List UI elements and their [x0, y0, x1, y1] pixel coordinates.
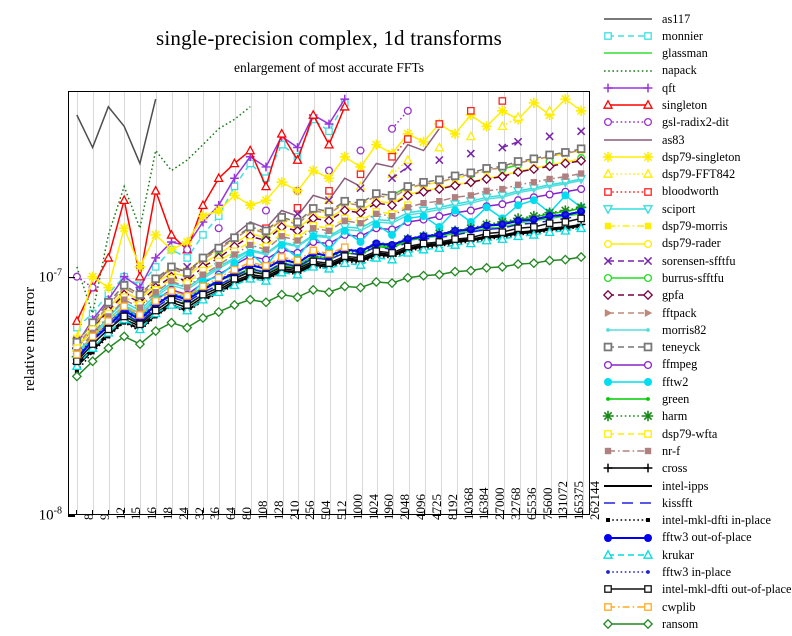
legend-label: qft [656, 82, 676, 94]
legend-item[interactable]: krukar [600, 546, 790, 563]
legend-label: intel-mkl-dfti out-of-place [656, 583, 791, 595]
data-point-marker [532, 188, 536, 192]
data-point-marker [530, 155, 537, 162]
data-point-marker [229, 190, 239, 200]
data-point-marker [404, 183, 411, 190]
data-point-marker [419, 271, 427, 279]
x-axis-tick-label: 24 [176, 507, 192, 520]
data-point-marker [246, 249, 254, 257]
data-point-marker [371, 139, 381, 149]
x-axis-tick-label: 80 [239, 507, 255, 520]
legend-item[interactable]: burrus-sfftfu [600, 269, 790, 286]
legend-label: napack [656, 64, 697, 76]
x-axis-tick-label: 9 [97, 514, 113, 521]
legend-line-icon [600, 496, 656, 510]
legend-item[interactable]: gpfa [600, 287, 790, 304]
legend-item[interactable]: dsp79-wfta [600, 425, 790, 442]
legend-line-icon [600, 409, 656, 423]
data-point-marker [389, 125, 396, 132]
data-point-marker [437, 232, 441, 236]
legend-item[interactable]: kissfft [600, 494, 790, 511]
data-point-marker [136, 272, 144, 279]
data-point-marker [467, 178, 475, 186]
chart-subtitle: enlargement of most accurate FFTs [68, 60, 590, 76]
legend-item[interactable]: harm [600, 408, 790, 425]
data-point-marker [87, 271, 97, 281]
legend-marker-icon [605, 448, 611, 454]
legend-item[interactable]: dsp79-rader [600, 235, 790, 252]
data-point-marker [436, 121, 442, 127]
data-point-marker [530, 259, 538, 267]
legend-marker-icon [605, 240, 612, 247]
data-point-marker [279, 233, 285, 239]
legend-item[interactable]: cwplib [600, 598, 790, 615]
legend-marker-icon [645, 240, 652, 247]
legend-marker-icon [605, 188, 611, 194]
data-point-marker [359, 229, 363, 233]
legend-marker-icon [644, 257, 651, 264]
legend-item[interactable]: fftw2 [600, 373, 790, 390]
x-axis-tick-mark [471, 510, 472, 515]
legend-marker-icon [603, 411, 613, 421]
legend-swatch [600, 306, 656, 320]
legend-item[interactable]: cross [600, 460, 790, 477]
data-point-marker [389, 192, 396, 199]
x-axis-tick-mark [345, 510, 346, 515]
data-point-marker [73, 317, 81, 324]
legend-item[interactable]: fftpack [600, 304, 790, 321]
data-point-marker [390, 221, 394, 225]
legend-label: cwplib [656, 601, 695, 613]
data-point-marker [499, 229, 505, 235]
data-point-marker [246, 146, 254, 153]
data-point-marker [469, 227, 473, 231]
data-point-marker [483, 188, 489, 194]
legend-marker-icon [605, 604, 611, 610]
legend-line-icon [600, 150, 656, 164]
legend-marker-icon [604, 170, 612, 177]
data-point-marker [405, 136, 411, 142]
legend-marker-icon [644, 551, 652, 558]
legend-item[interactable]: monnier [600, 27, 790, 44]
x-axis-tick-label: 2048 [397, 494, 413, 520]
legend-label: dsp79-rader [656, 237, 721, 249]
legend-item[interactable]: intel-ipps [600, 477, 790, 494]
data-point-marker [119, 223, 129, 233]
data-point-marker [373, 248, 379, 254]
legend-line-icon [600, 582, 656, 596]
legend-item[interactable]: sorensen-sfftfu [600, 252, 790, 269]
legend-marker-icon [604, 620, 612, 628]
legend-line-icon [600, 237, 656, 251]
legend-swatch [600, 548, 656, 562]
legend-marker-icon [606, 397, 610, 401]
legend-item[interactable]: fftw3 in-place [600, 564, 790, 581]
legend-marker-icon [644, 534, 652, 542]
chart-title: single-precision complex, 1d transforms [68, 26, 590, 51]
data-point-marker [89, 319, 96, 326]
legend-line-icon [600, 202, 656, 216]
data-point-marker [499, 201, 506, 208]
x-axis-tick-label: 8 [81, 514, 97, 521]
data-point-marker [216, 275, 222, 281]
data-point-marker [326, 128, 332, 134]
data-point-marker [279, 264, 285, 270]
legend-label: burrus-sfftfu [656, 272, 724, 284]
x-axis-tick-label: 210 [287, 501, 303, 521]
x-axis-tick-mark [456, 510, 457, 515]
legend-swatch [600, 323, 656, 337]
data-point-marker [74, 351, 80, 357]
legend-line-icon [600, 479, 656, 493]
legend-item[interactable]: nr-f [600, 442, 790, 459]
legend-item[interactable]: dsp79-FFT842 [600, 166, 790, 183]
data-point-marker [341, 198, 348, 205]
legend-item[interactable]: morris82 [600, 321, 790, 338]
data-point-marker [199, 201, 207, 208]
legend-label: glassman [656, 47, 708, 59]
data-point-marker [152, 187, 160, 194]
data-point-marker [405, 204, 411, 210]
data-point-marker [452, 194, 458, 200]
legend-line-icon [600, 133, 656, 147]
legend-item[interactable]: glassman [600, 45, 790, 62]
data-point-marker [500, 195, 504, 199]
data-point-marker [404, 163, 411, 170]
legend-marker-icon [605, 223, 611, 229]
legend-label: gpfa [656, 289, 684, 301]
legend-line-icon [600, 461, 656, 475]
legend-label: dsp79-FFT842 [656, 168, 735, 180]
x-axis-tick-label: 512 [334, 501, 350, 521]
legend-item[interactable]: napack [600, 62, 790, 79]
legend-swatch [600, 531, 656, 545]
data-point-marker [341, 282, 349, 290]
x-axis-tick-mark [582, 510, 583, 515]
data-point-marker [357, 220, 363, 226]
legend-swatch [600, 46, 656, 60]
data-point-marker [341, 227, 349, 235]
legend-swatch [600, 254, 656, 268]
data-point-marker [389, 154, 395, 160]
data-point-marker [261, 195, 271, 205]
data-point-marker [515, 225, 521, 231]
x-axis-tick-mark [187, 510, 188, 515]
data-point-marker [182, 237, 192, 247]
legend-item[interactable]: teneyck [600, 339, 790, 356]
legend-marker-icon [605, 361, 612, 368]
x-axis-tick-mark [250, 510, 251, 515]
data-point-marker [357, 200, 364, 207]
legend-line-icon [600, 427, 656, 441]
legend-marker-icon [604, 83, 613, 92]
legend-line-icon [600, 29, 656, 43]
legend-label: nr-f [656, 445, 680, 457]
data-point-marker [183, 323, 191, 331]
data-point-marker [150, 230, 160, 240]
legend-marker-icon [604, 291, 612, 299]
data-point-marker [578, 145, 585, 152]
data-point-marker [168, 296, 174, 302]
x-axis-tick-mark [266, 510, 267, 515]
x-axis-tick-label: 65536 [524, 488, 540, 521]
data-point-marker [200, 283, 206, 289]
x-axis-tick-mark [139, 510, 140, 515]
legend-label: dsp79-singleton [656, 151, 741, 163]
legend-item[interactable]: as117 [600, 10, 790, 27]
legend-item[interactable]: green [600, 391, 790, 408]
legend-item[interactable]: qft [600, 79, 790, 96]
data-point-marker [578, 186, 585, 193]
data-point-marker [497, 106, 507, 116]
data-point-marker [310, 258, 316, 264]
legend-label: gsl-radix2-dit [656, 116, 729, 128]
data-point-marker [357, 147, 364, 154]
data-point-marker [546, 107, 554, 114]
x-axis-tick-label: 4096 [413, 494, 429, 520]
data-point-marker [467, 207, 474, 214]
data-point-marker [374, 241, 378, 245]
legend-label: kissfft [656, 497, 693, 509]
y-axis-label: relative rms error [22, 287, 39, 391]
data-point-marker [309, 232, 317, 240]
legend-item[interactable]: ffmpeg [600, 356, 790, 373]
y-axis-tick-mark [68, 277, 75, 279]
x-axis-tick-label: 12 [113, 507, 129, 520]
data-point-marker [389, 213, 395, 219]
legend-item[interactable]: as83 [600, 131, 790, 148]
x-axis-tick-mark [503, 510, 504, 515]
legend-marker-icon [646, 570, 650, 574]
x-axis-tick-label: 131072 [555, 481, 571, 520]
data-point-marker [420, 240, 426, 246]
data-point-marker [498, 263, 506, 271]
legend-marker-icon [645, 604, 651, 610]
data-point-marker [579, 209, 583, 213]
data-point-marker [515, 158, 522, 165]
data-point-marker [435, 143, 443, 150]
data-point-marker [200, 254, 207, 261]
data-point-marker [483, 203, 491, 211]
data-point-marker [168, 263, 175, 270]
x-axis-tick-label: 128 [271, 501, 287, 521]
data-point-marker [89, 333, 95, 339]
legend-marker-icon [646, 397, 650, 401]
data-point-marker [200, 271, 206, 277]
data-point-marker [531, 224, 537, 230]
data-point-marker [531, 179, 537, 185]
x-axis-tick-label: 32 [192, 507, 208, 520]
data-point-marker [279, 254, 285, 260]
data-point-marker [325, 288, 333, 296]
data-point-marker [262, 182, 270, 189]
data-point-marker [357, 255, 363, 261]
legend-label: cross [656, 462, 687, 474]
legend-marker-icon [645, 448, 651, 454]
data-point-marker [562, 173, 568, 179]
data-point-marker [137, 291, 144, 298]
x-axis-tick-mark [313, 510, 314, 515]
legend-line-icon [600, 219, 656, 233]
data-point-marker [263, 246, 269, 252]
data-point-marker [388, 231, 396, 239]
legend-swatch [600, 479, 656, 493]
legend-swatch [600, 81, 656, 95]
data-point-marker [514, 260, 522, 268]
legend-label: krukar [656, 549, 694, 561]
data-point-marker [231, 267, 237, 273]
data-point-marker [406, 236, 410, 240]
data-point-marker [184, 269, 191, 276]
data-point-marker [247, 268, 253, 274]
x-axis-tick-mark [424, 510, 425, 515]
legend-item[interactable]: fftw3 out-of-place [600, 529, 790, 546]
legend-marker-icon [645, 119, 652, 126]
data-point-marker [184, 284, 190, 290]
legend-item[interactable]: ransom [600, 615, 790, 632]
x-axis-tick-label: 15 [128, 507, 144, 520]
x-axis-tick-label: 8192 [445, 494, 461, 520]
legend-marker-icon [644, 378, 652, 386]
x-axis-tick-mark [155, 510, 156, 515]
legend-item[interactable]: gsl-radix2-dit [600, 114, 790, 131]
data-point-marker [200, 291, 206, 297]
data-point-marker [436, 198, 442, 204]
x-axis-tick-mark [297, 510, 298, 515]
data-point-marker [325, 140, 333, 147]
data-point-marker [357, 238, 365, 246]
legend-item[interactable]: sciport [600, 200, 790, 217]
legend-swatch [600, 461, 656, 475]
data-point-marker [485, 223, 489, 227]
x-axis-tick-mark [171, 510, 172, 515]
legend-swatch [600, 167, 656, 181]
data-point-marker [548, 185, 552, 189]
x-axis-tick-mark [376, 510, 377, 515]
legend-marker-icon [645, 223, 651, 229]
x-axis-tick-mark [550, 510, 551, 515]
data-point-marker [548, 214, 552, 218]
legend-swatch [600, 12, 656, 26]
x-axis-tick-label: 36 [207, 507, 223, 520]
data-point-marker [545, 256, 553, 264]
data-point-marker [215, 245, 222, 252]
legend-marker-icon [644, 170, 652, 177]
legend-marker-icon [605, 344, 612, 351]
legend-marker-icon [644, 620, 652, 628]
data-point-marker [499, 186, 505, 192]
data-point-marker [498, 122, 506, 129]
data-point-marker [420, 179, 427, 186]
data-point-marker [152, 307, 158, 313]
legend-marker-icon [604, 464, 613, 473]
data-point-marker [294, 219, 301, 226]
legend-item[interactable]: intel-mkl-dfti in-place [600, 512, 790, 529]
data-point-marker [184, 302, 190, 308]
data-point-marker [292, 186, 302, 196]
data-point-marker [437, 208, 441, 212]
legend-marker-icon [606, 570, 610, 574]
data-point-marker [404, 214, 412, 222]
data-point-marker [390, 242, 394, 246]
legend-marker-icon [606, 328, 610, 332]
data-point-marker [563, 182, 567, 186]
legend-marker-icon [645, 361, 652, 368]
data-point-marker [373, 211, 379, 217]
data-point-marker [310, 205, 317, 212]
data-point-marker [560, 94, 570, 104]
data-point-marker [436, 176, 443, 183]
legend-line-icon [600, 271, 656, 285]
data-point-marker [296, 245, 300, 249]
legend-line-icon [600, 565, 656, 579]
legend-label: harm [656, 410, 687, 422]
legend-label: teneyck [656, 341, 700, 353]
data-point-marker [485, 197, 489, 201]
legend-item[interactable]: intel-mkl-dfti out-of-place [600, 581, 790, 598]
x-axis-tick-label: 4725 [429, 494, 445, 520]
data-point-marker [420, 212, 428, 220]
legend-item[interactable]: bloodworth [600, 183, 790, 200]
legend-swatch [600, 133, 656, 147]
x-axis-tick-mark [487, 510, 488, 515]
data-point-marker [468, 234, 474, 240]
data-point-marker [500, 222, 504, 226]
data-point-marker [529, 98, 539, 108]
data-point-marker [562, 149, 569, 156]
legend-swatch [600, 409, 656, 423]
data-point-marker [515, 182, 521, 188]
chart-legend: as117monnierglassmannapackqftsingletongs… [600, 10, 790, 633]
x-axis-tick-mark [108, 510, 109, 515]
data-point-marker [563, 212, 567, 216]
data-point-marker [199, 314, 207, 322]
data-point-marker [451, 267, 459, 275]
legend-line-icon [600, 392, 656, 406]
data-point-marker [420, 200, 426, 206]
x-axis-tick-label: 262144 [587, 481, 603, 520]
data-point-marker [105, 318, 111, 324]
legend-label: singleton [656, 99, 707, 111]
legend-marker-icon [645, 586, 651, 592]
legend-item[interactable]: dsp79-singleton [600, 148, 790, 165]
legend-swatch [600, 375, 656, 389]
legend-item[interactable]: dsp79-morris [600, 218, 790, 235]
legend-line-icon [600, 340, 656, 354]
data-point-marker [499, 98, 505, 104]
data-point-marker [215, 308, 223, 316]
data-point-marker [246, 295, 254, 303]
legend-marker-icon [645, 275, 652, 282]
legend-item[interactable]: singleton [600, 96, 790, 113]
data-point-marker [231, 276, 237, 282]
data-point-marker [451, 207, 459, 215]
data-point-marker [359, 249, 363, 253]
data-point-marker [262, 298, 270, 306]
legend-line-icon [600, 64, 656, 78]
data-point-marker [532, 217, 536, 221]
legend-marker-icon [605, 586, 611, 592]
data-point-marker [326, 250, 332, 256]
legend-label: bloodworth [656, 185, 719, 197]
data-point-marker [89, 341, 95, 347]
data-point-marker [137, 312, 143, 318]
chart-page: single-precision complex, 1d transforms … [0, 0, 792, 612]
data-point-marker [326, 188, 332, 194]
data-point-marker [167, 231, 175, 238]
legend-marker-icon [644, 291, 652, 299]
data-point-marker [245, 200, 255, 210]
